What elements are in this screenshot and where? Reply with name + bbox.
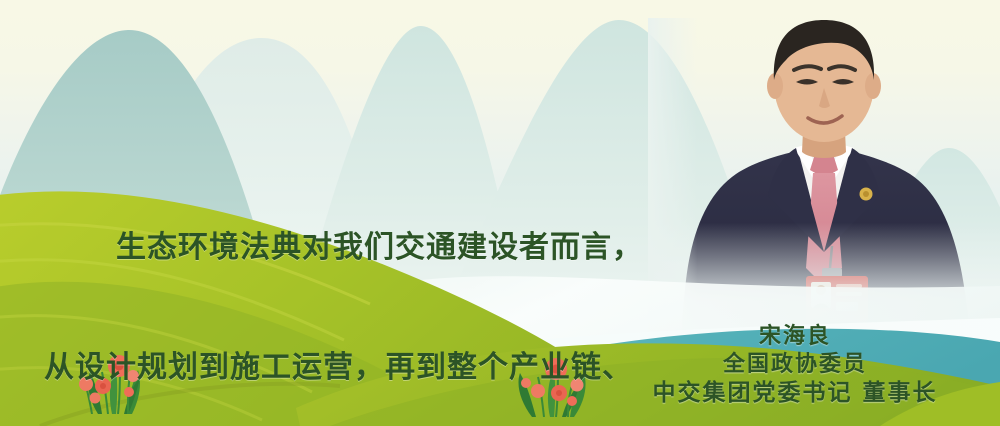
quote-text: 生态环境法典对我们交通建设者而言， 从设计规划到施工运营，再到整个产业链、 生态… [44,148,664,426]
speaker-name: 宋海良 [600,322,990,350]
speaker-role: 全国政协委员 [600,350,990,378]
quote-banner: 生态环境法典对我们交通建设者而言， 从设计规划到施工运营，再到整个产业链、 生态… [0,0,1000,426]
quote-line-2: 从设计规划到施工运营，再到整个产业链、 [44,348,664,388]
attribution-block: 宋海良 全国政协委员 中交集团党委书记 董事长 [600,322,990,408]
quote-line-1: 生态环境法典对我们交通建设者而言， [44,228,664,268]
speaker-title: 中交集团党委书记 董事长 [600,378,990,408]
